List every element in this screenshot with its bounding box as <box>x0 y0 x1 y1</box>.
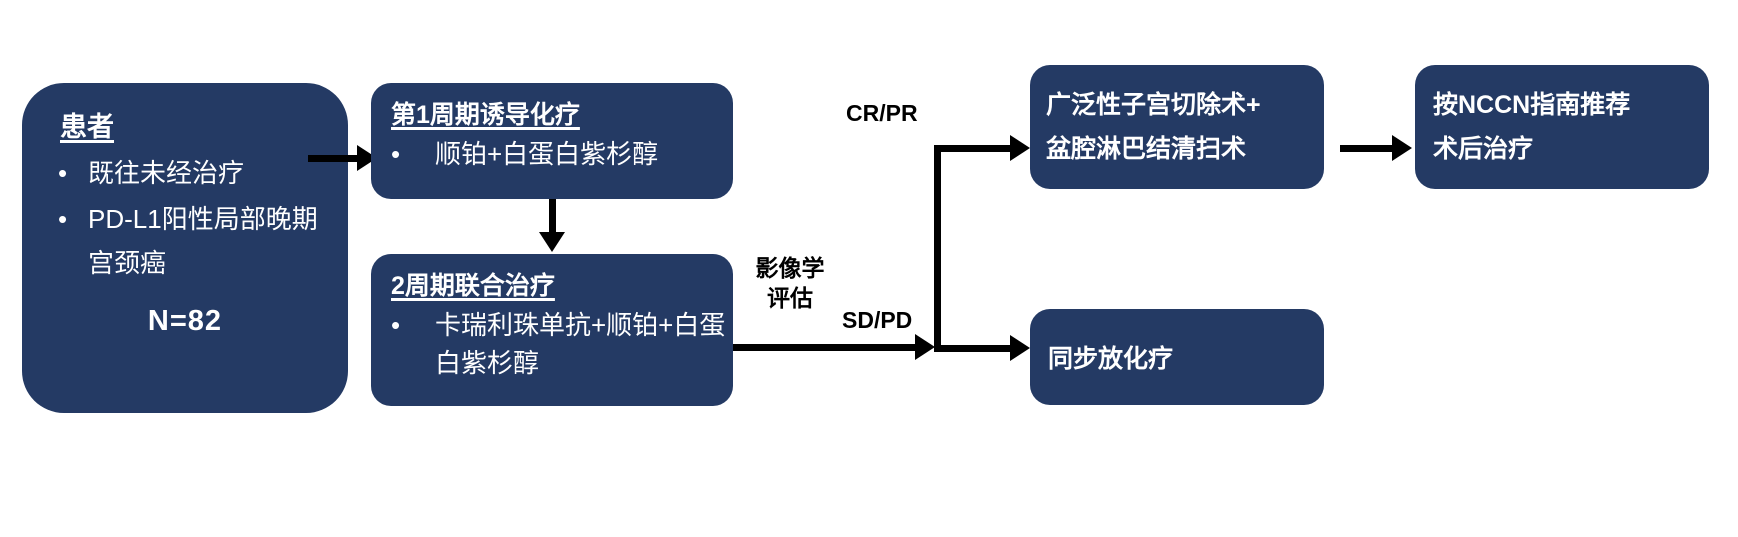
edge-label-line2: 评估 <box>744 283 836 313</box>
node-nccn-text: 按NCCN指南推荐 术后治疗 <box>1433 83 1701 171</box>
list-item-label: 顺铂+白蛋白紫杉醇 <box>435 135 731 173</box>
list-item-label: PD-L1阳性局部晚期宫颈癌 <box>88 197 324 285</box>
arrowhead-right-icon <box>1392 135 1412 161</box>
bullet-glyph-icon: • <box>58 151 67 195</box>
node-surgery-line2: 盆腔淋巴结清扫术 <box>1046 127 1314 171</box>
list-item: • 顺铂+白蛋白紫杉醇 <box>391 135 731 173</box>
list-item-label: 卡瑞利珠单抗+顺铂+白蛋白紫杉醇 <box>435 306 733 382</box>
node-cycle1-title: 第1周期诱导化疗 <box>391 95 580 131</box>
edge-line <box>1340 145 1397 152</box>
list-item-label: 既往未经治疗 <box>88 151 324 195</box>
edge-label-sd-pd: SD/PD <box>842 305 912 335</box>
arrowhead-right-icon <box>1010 135 1030 161</box>
node-surgery-line1: 广泛性子宫切除术+ <box>1046 83 1314 127</box>
node-nccn-line2: 术后治疗 <box>1433 127 1701 171</box>
node-cycle2-title: 2周期联合治疗 <box>391 266 555 302</box>
bullet-glyph-icon: • <box>391 306 400 344</box>
node-patients-bullets: • 既往未经治疗 • PD-L1阳性局部晚期宫颈癌 <box>58 151 324 287</box>
node-nccn-adjuvant-therapy[interactable]: 按NCCN指南推荐 术后治疗 <box>1415 65 1709 189</box>
edge-line <box>934 145 941 352</box>
node-patients-title: 患者 <box>60 105 114 144</box>
edge-line <box>733 344 918 351</box>
list-item: • 卡瑞利珠单抗+顺铂+白蛋白紫杉醇 <box>391 306 733 382</box>
list-item: • 既往未经治疗 <box>58 151 324 195</box>
node-cycle2-bullets: • 卡瑞利珠单抗+顺铂+白蛋白紫杉醇 <box>391 306 733 382</box>
bullet-glyph-icon: • <box>391 135 400 173</box>
arrowhead-right-icon <box>1010 335 1030 361</box>
list-item: • PD-L1阳性局部晚期宫颈癌 <box>58 197 324 285</box>
bullet-glyph-icon: • <box>58 197 67 241</box>
node-nccn-line1: 按NCCN指南推荐 <box>1433 83 1701 127</box>
node-cycle2-combination-therapy[interactable]: 2周期联合治疗 • 卡瑞利珠单抗+顺铂+白蛋白紫杉醇 <box>371 254 733 406</box>
arrowhead-right-icon <box>915 334 935 360</box>
node-cycle1-bullets: • 顺铂+白蛋白紫杉醇 <box>391 135 731 173</box>
edge-line <box>934 345 1014 352</box>
edge-label-line1: 影像学 <box>744 253 836 283</box>
node-cycle1-induction-chemo[interactable]: 第1周期诱导化疗 • 顺铂+白蛋白紫杉醇 <box>371 83 733 199</box>
edge-label-cr-pr: CR/PR <box>846 98 918 128</box>
node-patients-sample-size: N=82 <box>22 305 348 338</box>
node-ccrt-label: 同步放化疗 <box>1048 309 1173 405</box>
flowchart-canvas: 患者 • 既往未经治疗 • PD-L1阳性局部晚期宫颈癌 N=82 第1周期诱导… <box>0 0 1738 537</box>
edge-label-imaging-assessment: 影像学 评估 <box>744 253 836 313</box>
node-concurrent-chemoradiotherapy[interactable]: 同步放化疗 <box>1030 309 1324 405</box>
node-radical-hysterectomy[interactable]: 广泛性子宫切除术+ 盆腔淋巴结清扫术 <box>1030 65 1324 189</box>
node-surgery-text: 广泛性子宫切除术+ 盆腔淋巴结清扫术 <box>1046 83 1314 171</box>
edge-line <box>934 145 1014 152</box>
node-patients[interactable]: 患者 • 既往未经治疗 • PD-L1阳性局部晚期宫颈癌 N=82 <box>22 83 348 413</box>
edge-line <box>308 155 360 162</box>
arrowhead-down-icon <box>539 232 565 252</box>
